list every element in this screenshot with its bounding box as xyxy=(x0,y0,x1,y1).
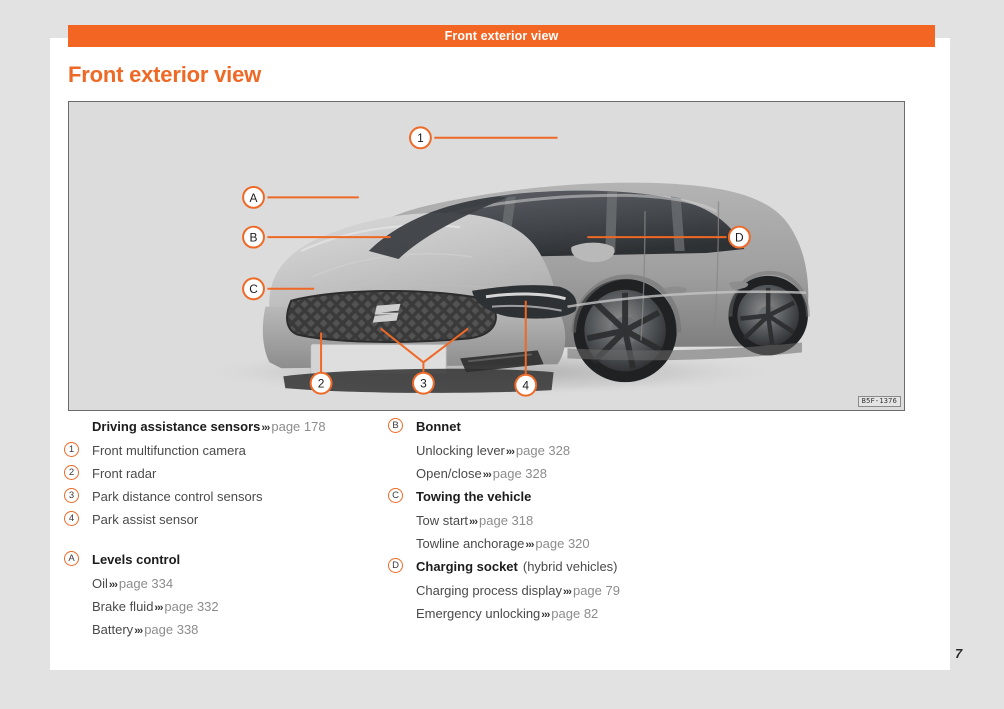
legend: Driving assistance sensors›››page 178 1 … xyxy=(64,417,910,647)
marker-cell-empty xyxy=(64,620,92,621)
page-reference[interactable]: page 332 xyxy=(164,599,218,614)
legend-subitem-open-close: Open/close›››page 328 xyxy=(388,464,788,487)
marker-cell-empty xyxy=(388,534,416,535)
legend-subitem: Towline anchorage›››page 320 xyxy=(416,534,590,554)
callout-marker-c: C xyxy=(388,488,403,503)
page-reference[interactable]: page 79 xyxy=(573,583,620,598)
marker-cell-empty xyxy=(64,597,92,598)
legend-subitem-label: Towline anchorage xyxy=(416,536,524,551)
page-reference[interactable]: page 338 xyxy=(144,622,198,637)
callout-marker-2: 2 xyxy=(64,465,79,480)
marker-cell-empty xyxy=(388,441,416,442)
legend-heading-row-d: D Charging socket(hybrid vehicles) xyxy=(388,557,788,581)
page-number: 7 xyxy=(955,646,962,661)
legend-heading-towing-the-vehicle: Towing the vehicle xyxy=(416,487,531,507)
legend-subitem-towline-anchorage: Towline anchorage›››page 320 xyxy=(388,534,788,557)
page-reference[interactable]: page 82 xyxy=(551,606,598,621)
legend-subitem: Open/close›››page 328 xyxy=(416,464,547,484)
svg-text:D: D xyxy=(735,231,744,245)
legend-subitem: Charging process display›››page 79 xyxy=(416,581,620,601)
legend-subitem-label: Brake fluid xyxy=(92,599,153,614)
marker-cell: 4 xyxy=(64,510,92,526)
legend-heading-levels-control: Levels control xyxy=(92,550,180,570)
legend-subitem-label: Emergency unlocking xyxy=(416,606,540,621)
marker-cell-empty xyxy=(388,581,416,582)
svg-text:B: B xyxy=(250,231,258,245)
legend-subitem-label: Charging process display xyxy=(416,583,562,598)
legend-subitem-label: Tow start xyxy=(416,513,468,528)
page-reference[interactable]: page 318 xyxy=(479,513,533,528)
legend-group-charging-socket: D Charging socket(hybrid vehicles) Charg… xyxy=(388,557,788,627)
legend-subitem: Unlocking lever›››page 328 xyxy=(416,441,570,461)
marker-cell: B xyxy=(388,417,416,433)
marker-cell: C xyxy=(388,487,416,503)
reference-arrows-icon: ››› xyxy=(260,422,271,434)
running-header-title: Front exterior view xyxy=(445,30,559,43)
reference-arrows-icon: ››› xyxy=(468,516,479,528)
legend-subitem-charging-process-display: Charging process display›››page 79 xyxy=(388,581,788,604)
legend-subitem-label: Open/close xyxy=(416,466,482,481)
legend-subitem-label: Battery xyxy=(92,622,133,637)
legend-item-label: Park assist sensor xyxy=(92,510,198,530)
marker-cell: 1 xyxy=(64,441,92,457)
svg-text:3: 3 xyxy=(420,377,427,391)
callout-marker-1: 1 xyxy=(64,442,79,457)
legend-subitem-emergency-unlocking: Emergency unlocking›››page 82 xyxy=(388,604,788,627)
legend-group-towing: C Towing the vehicle Tow start›››page 31… xyxy=(388,487,788,557)
page-reference[interactable]: page 334 xyxy=(119,576,173,591)
reference-arrows-icon: ››› xyxy=(153,602,164,614)
legend-heading-driving-assistance-sensors: Driving assistance sensors›››page 178 xyxy=(92,417,326,437)
legend-subitem-tow-start: Tow start›››page 318 xyxy=(388,511,788,534)
svg-text:4: 4 xyxy=(522,379,529,393)
svg-text:A: A xyxy=(250,191,258,205)
reference-arrows-icon: ››› xyxy=(540,609,551,621)
legend-heading-row-c: C Towing the vehicle xyxy=(388,487,788,511)
legend-subitem-label: Unlocking lever xyxy=(416,443,505,458)
legend-subitem: Battery›››page 338 xyxy=(92,620,198,640)
legend-subitem: Emergency unlocking›››page 82 xyxy=(416,604,598,624)
marker-cell-empty xyxy=(64,574,92,575)
callout-marker-b: B xyxy=(388,418,403,433)
vehicle-illustration: 1 A B C D 2 3 4 xyxy=(69,102,904,410)
legend-subitem-label: Oil xyxy=(92,576,108,591)
callout-3: 3 xyxy=(413,373,434,394)
legend-heading-text: Charging socket xyxy=(416,559,518,574)
legend-subitem: Oil›››page 334 xyxy=(92,574,173,594)
legend-item-label: Front radar xyxy=(92,464,156,484)
marker-cell: D xyxy=(388,557,416,573)
page-reference[interactable]: page 328 xyxy=(516,443,570,458)
reference-arrows-icon: ››› xyxy=(562,586,573,598)
reference-arrows-icon: ››› xyxy=(482,469,493,481)
reference-arrows-icon: ››› xyxy=(133,625,144,637)
callout-A: A xyxy=(243,187,264,208)
callout-1: 1 xyxy=(410,127,431,148)
legend-group-bonnet: B Bonnet Unlocking lever›››page 328 Open… xyxy=(388,417,788,487)
callout-B: B xyxy=(243,227,264,248)
reference-arrows-icon: ››› xyxy=(108,579,119,591)
legend-item-label: Park distance control sensors xyxy=(92,487,263,507)
marker-cell-empty xyxy=(64,417,92,418)
marker-cell-empty xyxy=(388,511,416,512)
seat-emblem xyxy=(373,304,401,323)
legend-subitem: Brake fluid›››page 332 xyxy=(92,597,219,617)
legend-subitem: Tow start›››page 318 xyxy=(416,511,533,531)
callout-C: C xyxy=(243,278,264,299)
legend-heading-row-b: B Bonnet xyxy=(388,417,788,441)
legend-item-label: Front multifunction camera xyxy=(92,441,246,461)
marker-cell: 2 xyxy=(64,464,92,480)
svg-text:1: 1 xyxy=(417,131,424,145)
marker-cell: A xyxy=(64,550,92,566)
legend-heading-text: Driving assistance sensors xyxy=(92,419,260,434)
reference-arrows-icon: ››› xyxy=(524,539,535,551)
vehicle-figure: 1 A B C D 2 3 4 B5F-1376 xyxy=(68,101,905,411)
legend-subitem-unlocking-lever: Unlocking lever›››page 328 xyxy=(388,441,788,464)
legend-heading-charging-socket: Charging socket(hybrid vehicles) xyxy=(416,557,618,577)
callout-marker-3: 3 xyxy=(64,488,79,503)
callout-4: 4 xyxy=(515,375,536,396)
callout-D: D xyxy=(729,227,750,248)
svg-text:2: 2 xyxy=(318,377,325,391)
legend-heading-bonnet: Bonnet xyxy=(416,417,461,437)
svg-text:C: C xyxy=(249,282,258,296)
marker-cell: 3 xyxy=(64,487,92,503)
page-title: Front exterior view xyxy=(68,62,261,88)
reference-arrows-icon: ››› xyxy=(505,446,516,458)
page-reference[interactable]: page 320 xyxy=(535,536,589,551)
page-reference[interactable]: page 328 xyxy=(493,466,547,481)
callout-marker-a: A xyxy=(64,551,79,566)
callout-marker-4: 4 xyxy=(64,511,79,526)
running-header-band: Front exterior view xyxy=(68,25,935,47)
legend-column-right: B Bonnet Unlocking lever›››page 328 Open… xyxy=(388,417,788,627)
legend-heading-note: (hybrid vehicles) xyxy=(523,559,618,574)
marker-cell-empty xyxy=(388,604,416,605)
figure-code-label: B5F-1376 xyxy=(858,396,901,407)
callout-2: 2 xyxy=(311,373,332,394)
callout-marker-d: D xyxy=(388,558,403,573)
page-reference[interactable]: page 178 xyxy=(271,419,325,434)
marker-cell-empty xyxy=(388,464,416,465)
